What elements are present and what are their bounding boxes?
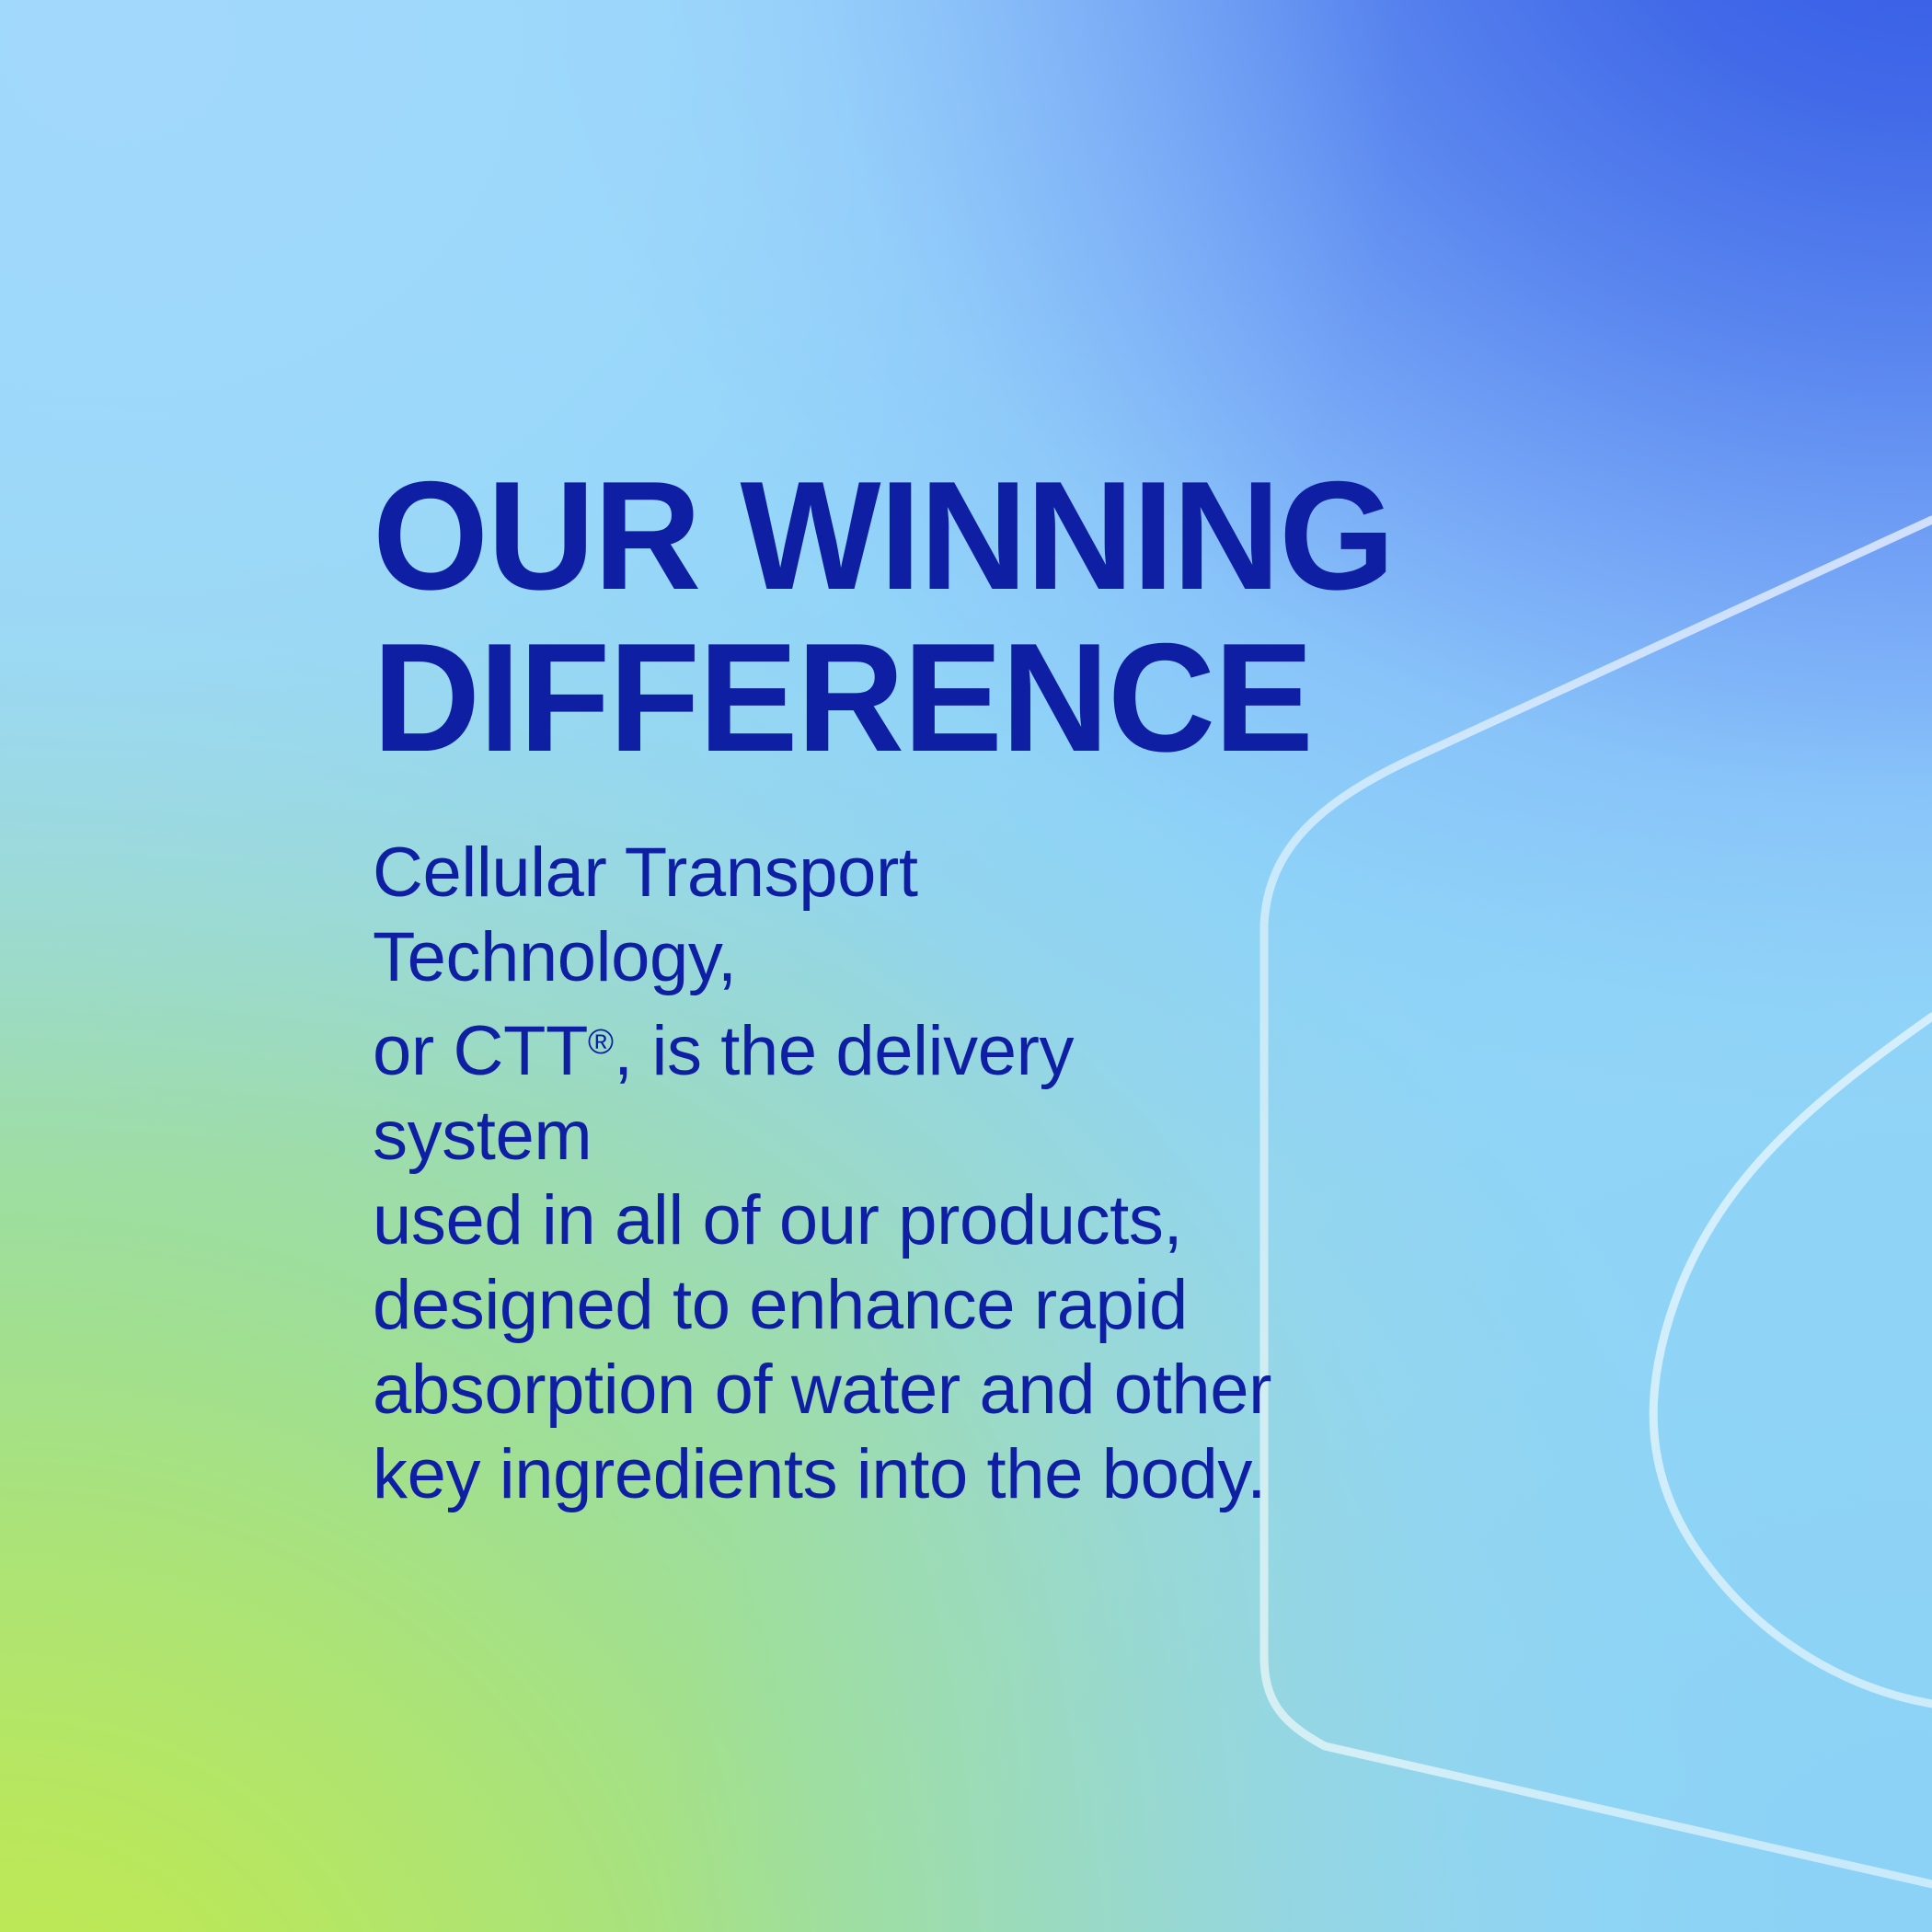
promo-card: OUR WINNING DIFFERENCE Cellular Transpor… <box>0 0 1932 1932</box>
body-paragraph: Cellular Transport Technology, or CTT®, … <box>373 831 1293 1517</box>
content-block: OUR WINNING DIFFERENCE Cellular Transpor… <box>373 0 1569 1932</box>
registered-trademark-icon: ® <box>588 1023 614 1062</box>
page-title: OUR WINNING DIFFERENCE <box>373 454 1491 778</box>
